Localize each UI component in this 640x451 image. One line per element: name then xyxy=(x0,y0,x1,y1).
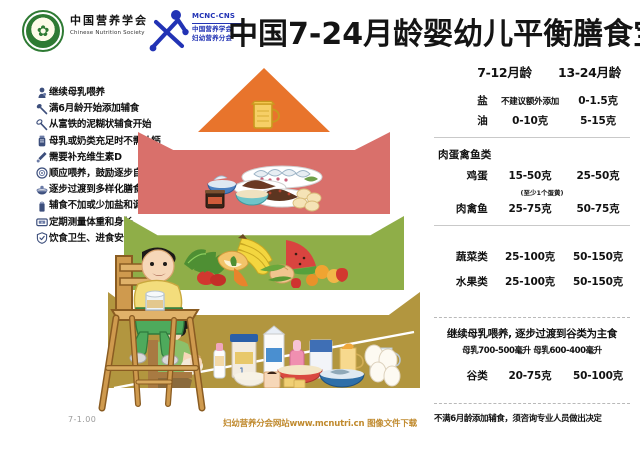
row-value-salt-7-12: 不建议额外添加 xyxy=(496,95,564,107)
salt-shaker-icon xyxy=(34,199,49,212)
row-label-grains: 谷类 xyxy=(432,368,496,383)
row-value-egg-13-24: 25-50克 xyxy=(564,168,632,183)
column-header-13-24: 13-24月龄 xyxy=(547,62,632,81)
row-value-salt-13-24: 0-1.5克 xyxy=(564,93,632,108)
row-value-grains-13-24: 50-100克 xyxy=(564,368,632,383)
breastfeeding-icon xyxy=(34,86,49,99)
spoon-paste-icon xyxy=(34,118,49,131)
row-label-vegetables: 蔬菜类 xyxy=(432,249,496,264)
row-label-meat-fish: 肉禽鱼 xyxy=(432,201,496,216)
row-label-oil: 油 xyxy=(432,113,496,128)
cns-logo-text: 中国营养学会 Chinese Nutrition Society xyxy=(70,14,156,37)
row-value-grains-7-12: 20-75克 xyxy=(496,368,564,383)
mcnc-runner-icon xyxy=(148,8,192,52)
header: ✿ 中国营养学会 Chinese Nutrition Society MCNC-… xyxy=(0,0,640,58)
row-value-vegetables-7-12: 25-100克 xyxy=(496,249,564,264)
table-row: 盐 不建议额外添加 0-1.5克 xyxy=(432,93,632,108)
section-header-meat: 肉蛋禽鱼类 xyxy=(432,147,632,162)
table-row: 肉禽鱼 25-75克 50-75克 xyxy=(432,201,632,216)
shield-hygiene-icon xyxy=(34,232,49,245)
cns-logo-en: Chinese Nutrition Society xyxy=(70,30,156,37)
footer-url-note: 妇幼营养分会网站www.mcnutri.cn 图像文件下载 xyxy=(0,417,640,429)
table-row: 鸡蛋 15-50克 25-50克 xyxy=(432,168,632,183)
scale-icon xyxy=(34,216,49,229)
row-label-salt: 盐 xyxy=(432,93,496,108)
table-divider xyxy=(434,225,630,226)
table-row: 油 0-10克 5-15克 xyxy=(432,113,632,128)
table-row: 蔬菜类 25-100克 50-150克 xyxy=(432,249,632,264)
row-note-egg: (至少1个蛋黄) xyxy=(432,187,632,197)
spoon-icon xyxy=(34,102,49,115)
dropper-icon xyxy=(34,151,49,164)
bowl-icon xyxy=(34,167,49,180)
table-divider-dashed xyxy=(434,317,630,318)
row-value-meat-fish-7-12: 25-75克 xyxy=(496,201,564,216)
row-label-egg: 鸡蛋 xyxy=(432,168,496,183)
table-row: 谷类 20-75克 50-100克 xyxy=(432,368,632,383)
milk-note-lead: 继续母乳喂养, 逐步过渡到谷类为主食 xyxy=(432,327,632,342)
page-title: 中国7-24月龄婴幼儿平衡膳食宝塔 xyxy=(228,18,640,52)
plate-icon xyxy=(34,183,49,196)
row-label-fruits: 水果类 xyxy=(432,274,496,289)
meat-fish-dishes-illustration xyxy=(200,150,330,212)
cns-logo-cn: 中国营养学会 xyxy=(70,14,156,27)
row-value-fruits-13-24: 50-150克 xyxy=(564,274,632,289)
table-row: 水果类 25-100克 50-150克 xyxy=(432,274,632,289)
column-header-7-12: 7-12月龄 xyxy=(462,62,547,81)
row-value-meat-fish-13-24: 50-75克 xyxy=(564,201,632,216)
table-divider xyxy=(434,137,630,138)
row-value-oil-13-24: 5-15克 xyxy=(564,113,632,128)
milk-bottle-icon xyxy=(34,135,49,148)
table-header-row: 7-12月龄 13-24月龄 xyxy=(432,62,632,81)
row-value-oil-7-12: 0-10克 xyxy=(496,113,564,128)
infographic-page: ✿ 中国营养学会 Chinese Nutrition Society MCNC-… xyxy=(0,0,640,451)
row-value-fruits-7-12: 25-100克 xyxy=(496,274,564,289)
milk-note-sub: 母乳700-500毫升 母乳600-400毫升 xyxy=(432,344,632,356)
baby-in-highchair-illustration xyxy=(86,240,214,412)
row-value-egg-7-12: 15-50克 xyxy=(496,168,564,183)
oil-jug-icon xyxy=(248,100,282,130)
table-divider-dashed xyxy=(434,403,630,404)
nutrition-table: 7-12月龄 13-24月龄 盐 不建议额外添加 0-1.5克 油 0-10克 … xyxy=(432,62,632,426)
cns-emblem-icon: ✿ xyxy=(22,10,64,52)
row-value-vegetables-13-24: 50-150克 xyxy=(564,249,632,264)
